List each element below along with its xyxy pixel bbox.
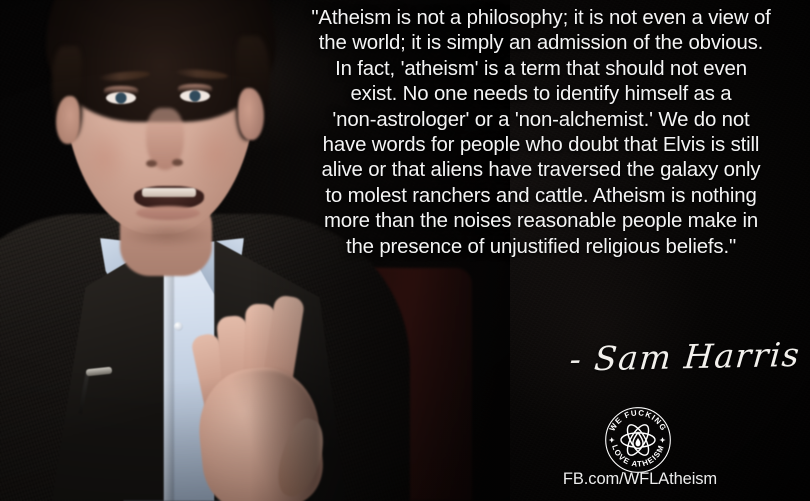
gesturing-hand	[186, 300, 342, 501]
shirt-placket	[163, 250, 174, 501]
ear-left	[56, 96, 80, 144]
nostril-left	[146, 160, 157, 167]
teeth	[142, 188, 196, 197]
lower-lip	[136, 206, 200, 220]
hand-shading	[200, 370, 320, 501]
eyelid-left	[104, 86, 138, 94]
quote-poster: "Atheism is not a philosophy; it is not …	[0, 0, 810, 501]
badge-star-left	[609, 437, 615, 443]
facebook-url[interactable]: FB.com/WFLAtheism	[556, 470, 724, 489]
badge-star-right	[659, 437, 665, 443]
wfl-atheism-badge: WE FUCKING LOVE ATHEISM	[604, 406, 672, 474]
eyelid-right	[178, 84, 212, 92]
cheek-right	[192, 124, 238, 184]
flame-icon	[633, 433, 643, 449]
shirt-button	[174, 322, 183, 331]
chin-shadow	[120, 222, 214, 248]
signature-sam-harris: - Sam Harris	[498, 335, 802, 380]
nostril-right	[172, 159, 183, 166]
cheek-left	[82, 128, 128, 188]
quote-text: "Atheism is not a philosophy; it is not …	[276, 6, 806, 260]
